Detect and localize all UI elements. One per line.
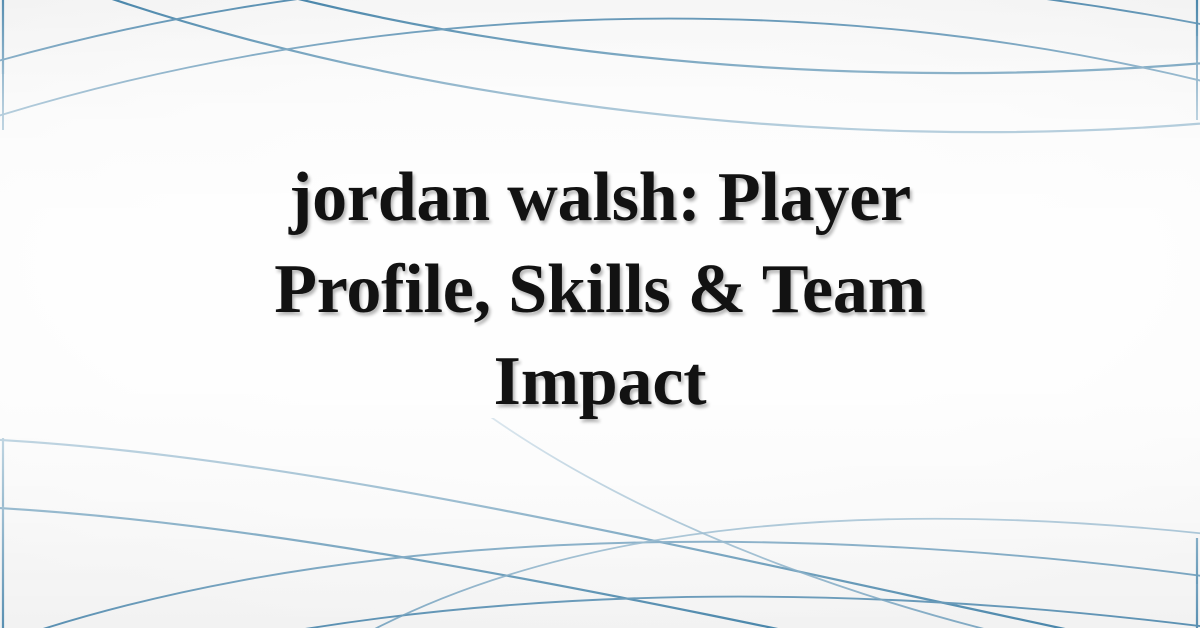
title-line-3: Impact — [90, 336, 1110, 428]
arc-bottom-6 — [470, 418, 1180, 628]
title-line-2: Profile, Skills & Team — [90, 244, 1110, 336]
bottom-arc-band — [0, 418, 1200, 628]
arc-bottom-5 — [330, 519, 1200, 628]
arc-top-3 — [0, 0, 1200, 72]
arc-bottom-2 — [0, 506, 1200, 628]
arc-bottom-1 — [0, 438, 1200, 628]
arc-bottom-4 — [0, 597, 1200, 628]
social-preview-card: jordan walsh: Player Profile, Skills & T… — [0, 0, 1200, 628]
arc-top-2 — [0, 0, 1200, 132]
arc-top-1 — [0, 0, 1200, 73]
arc-bottom-3 — [0, 542, 1200, 628]
title-line-1: jordan walsh: Player — [90, 152, 1110, 244]
arc-top-4 — [0, 19, 1200, 128]
page-title: jordan walsh: Player Profile, Skills & T… — [0, 152, 1200, 428]
